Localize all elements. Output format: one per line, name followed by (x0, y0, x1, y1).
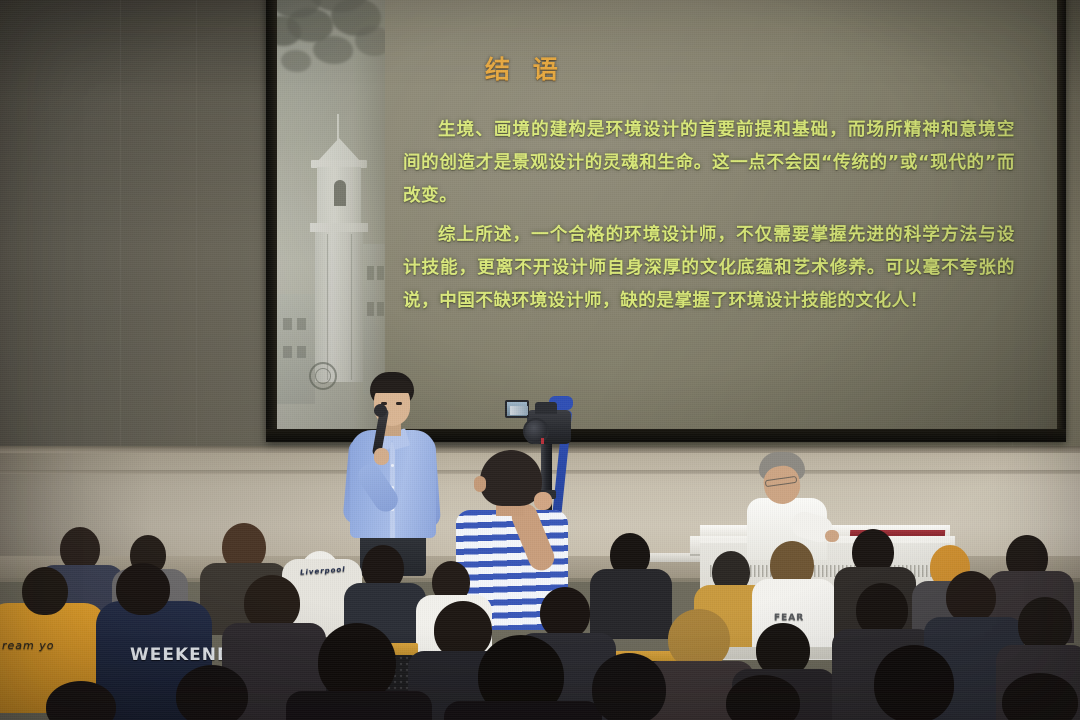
garment-text-dream: ream yo (2, 639, 54, 652)
screen-border-right (1057, 0, 1066, 442)
audience-head-foreground (318, 623, 396, 701)
slide-paragraph-1: 生境、画境的建构是环境设计的首要前提和基础，而场所精神和意境空间的创造才是景观设… (403, 114, 1015, 213)
slide-title: 结 语 (485, 50, 1023, 86)
microphone-head (374, 404, 387, 417)
photo-fade-overlay (277, 0, 385, 429)
audience-head (946, 571, 996, 623)
operator-head (480, 450, 542, 506)
audience-head (668, 609, 730, 669)
projected-slide: 结 语 生境、画境的建构是环境设计的首要前提和基础，而场所精神和意境空间的创造才… (277, 0, 1057, 429)
audience-seating: Liverpool FEAR ream yo WEEKEND (0, 505, 1080, 720)
presenter-hand (374, 448, 389, 465)
audience-head (540, 587, 590, 639)
slide-photo-bell-tower (277, 0, 385, 429)
camera-hotshoe (535, 402, 557, 414)
wall-seam (120, 0, 121, 455)
presenter-fringe (371, 380, 413, 393)
audience-torso (590, 569, 672, 639)
audience-head (22, 567, 68, 615)
wall-seam (196, 0, 197, 455)
slide-text-block: 结 语 生境、画境的建构是环境设计的首要前提和基础，而场所精神和意境空间的创造才… (385, 0, 1057, 429)
audience-head-foreground (874, 645, 954, 720)
slide-paragraph-2: 综上所述，一个合格的环境设计师，不仅需要掌握先进的科学方法与设计技能，更离不开设… (403, 219, 1015, 318)
audience-torso-foreground (286, 691, 432, 720)
audience-torso-foreground (444, 701, 602, 720)
operator-ear (474, 476, 486, 492)
audience-head-foreground (176, 665, 248, 720)
audience-head (116, 563, 170, 615)
garment-text-weekend: WEEKEND (130, 645, 232, 665)
audience-head-foreground (592, 653, 666, 720)
lecture-hall-scene: 结 语 生境、画境的建构是环境设计的首要前提和基础，而场所精神和意境空间的创造才… (0, 0, 1080, 720)
slide-body: 生境、画境的建构是环境设计的首要前提和基础，而场所精神和意境空间的创造才是景观设… (403, 114, 1015, 318)
camera-lcd-screen (505, 400, 529, 418)
garment-text-fear: FEAR (774, 613, 804, 623)
